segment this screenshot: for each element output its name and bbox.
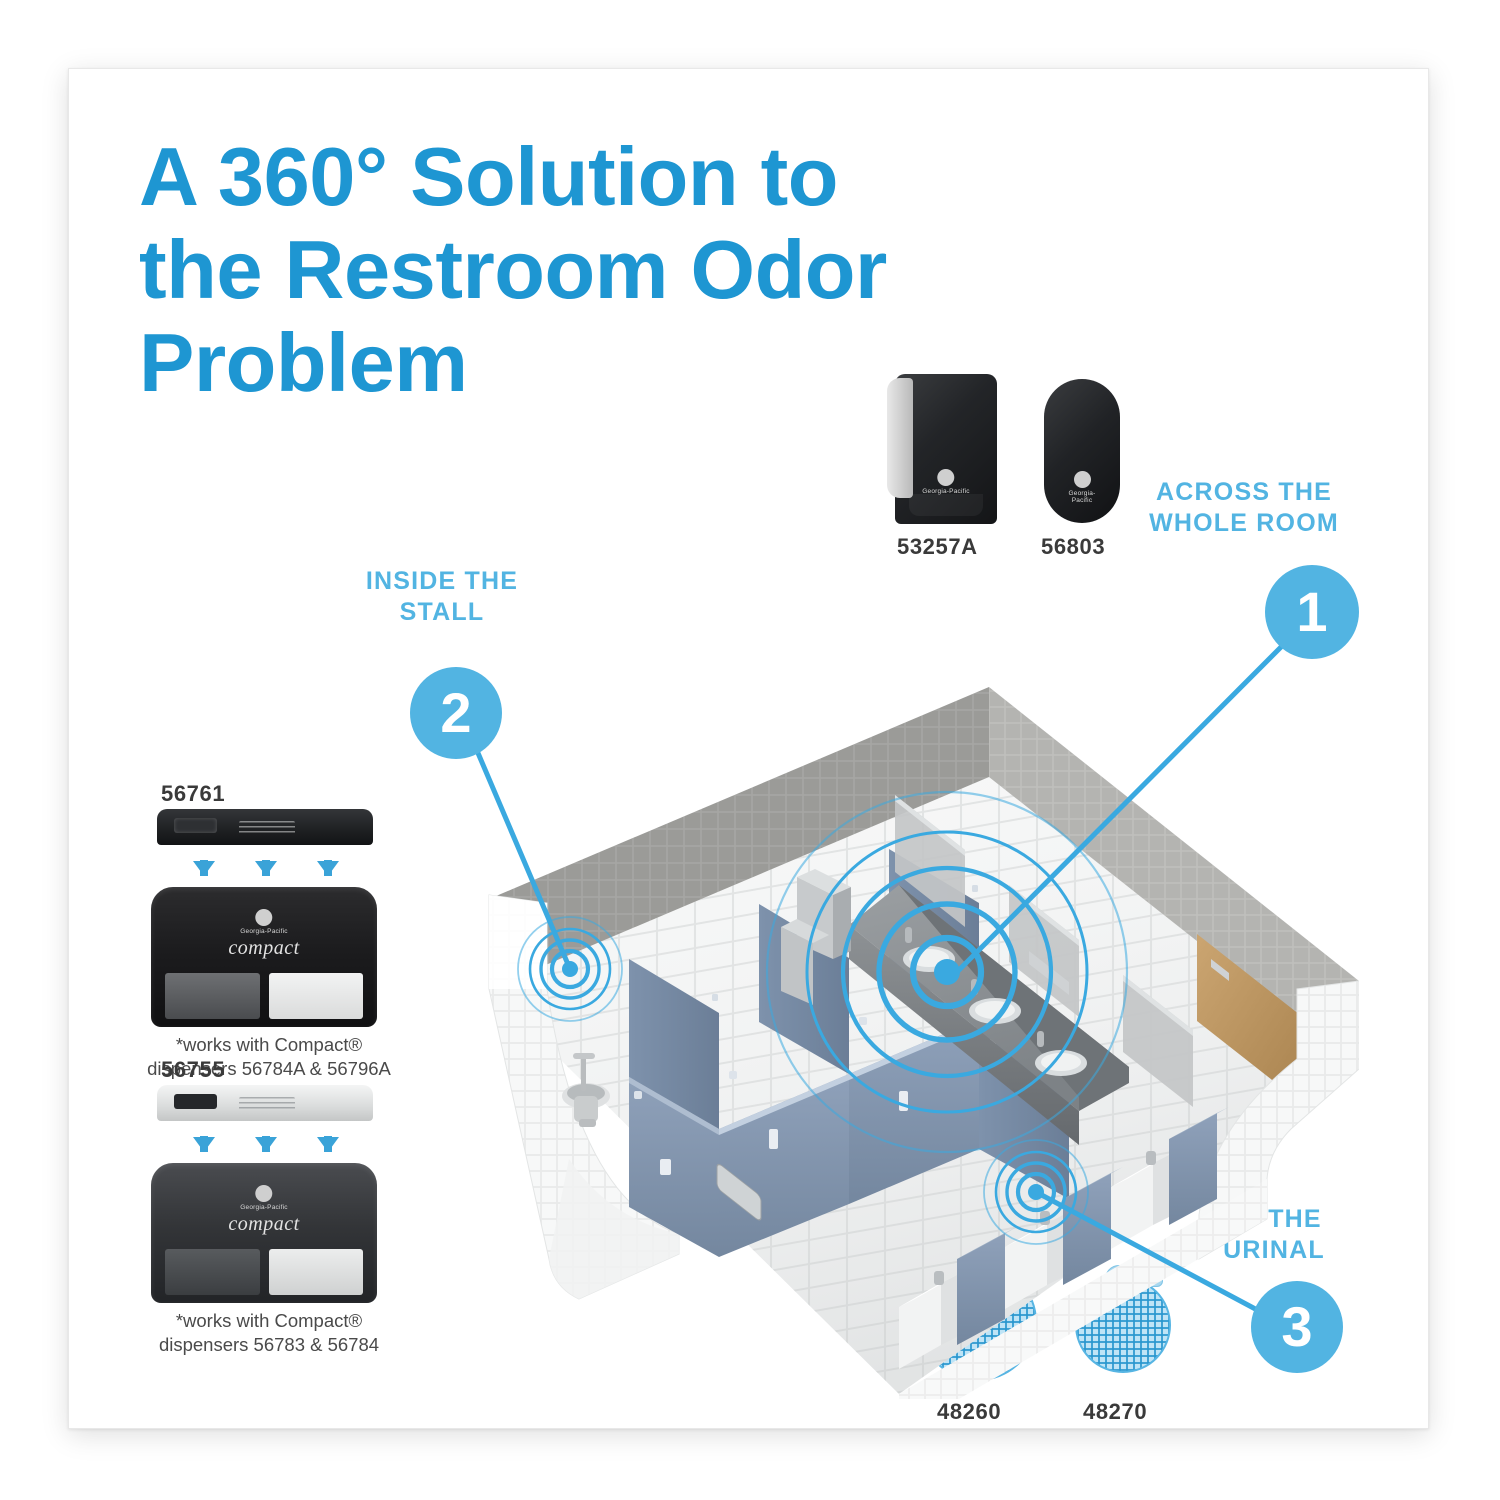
down-arrow-icon [193, 1137, 215, 1152]
tissue-window-right [269, 973, 363, 1019]
tissue-window-left [165, 973, 260, 1019]
module-control-chip [174, 1094, 217, 1108]
module-vents-icon [239, 821, 295, 836]
page-title-line-1: A 360° Solution to [139, 131, 1019, 224]
caption-across-whole-room: ACROSS THE WHOLE ROOM [1129, 477, 1359, 540]
product-56803[interactable]: Georgia-Pacific 56803 [1044, 379, 1154, 529]
gp-brand-text: Georgia-Pacific [1063, 490, 1101, 504]
tissue-window-right [269, 1249, 363, 1295]
compact-dispenser-black-image: Georgia-Pacific compact [151, 887, 377, 1027]
down-arrow-icon [255, 1137, 277, 1152]
gp-logo-53257A: Georgia-Pacific [922, 469, 969, 495]
air-freshener-module-56755 [157, 1085, 373, 1121]
tissue-window-left [165, 1249, 260, 1295]
caption-room-line-2: WHOLE ROOM [1129, 508, 1359, 539]
air-freshener-module-56761 [157, 809, 373, 845]
gp-circle-icon [1074, 471, 1091, 488]
sku-56803: 56803 [1041, 534, 1105, 560]
sku-48260: 48260 [937, 1399, 1001, 1425]
caption-inside-the-stall: INSIDE THE STALL [307, 566, 577, 629]
gp-logo-56803: Georgia-Pacific [1063, 471, 1101, 504]
product-53257A[interactable]: Georgia-Pacific 53257A [895, 374, 1015, 524]
module-control-chip [174, 818, 217, 832]
page-title-line-2: the Restroom Odor [139, 224, 1019, 317]
wall-dispenser-box-image: Georgia-Pacific [895, 374, 997, 524]
caption-stall-line-1: INSIDE THE [307, 566, 577, 597]
compact-wordmark: compact [228, 1213, 299, 1236]
caption-room-line-1: ACROSS THE [1129, 477, 1359, 508]
restroom-isometric-illustration [429, 659, 1359, 1399]
down-arrow-icon [317, 1137, 339, 1152]
gp-logo-56761: Georgia-Pacific [240, 909, 287, 935]
attach-arrows-56755 [173, 1129, 359, 1159]
product-56761[interactable]: 56761 Georgia-Pacific compact [139, 781, 399, 1051]
down-arrow-icon [193, 861, 215, 876]
wall-dispenser-pill-image: Georgia-Pacific [1044, 379, 1120, 523]
dispenser-nozzle-area [909, 494, 983, 516]
gp-circle-icon [938, 469, 955, 486]
module-vents-icon [239, 1097, 295, 1112]
down-arrow-icon [255, 861, 277, 876]
footnote-56755-line-2: dispensers 56783 & 56784 [144, 1333, 394, 1357]
infographic-canvas: A 360° Solution to the Restroom Odor Pro… [0, 0, 1500, 1500]
gp-brand-text: Georgia-Pacific [240, 928, 287, 935]
sku-56761: 56761 [161, 781, 225, 807]
badge-1-whole-room[interactable]: 1 [1265, 565, 1359, 659]
gp-brand-text: Georgia-Pacific [240, 1204, 287, 1211]
footnote-56755-line-1: *works with Compact® [144, 1309, 394, 1333]
page-title: A 360° Solution to the Restroom Odor Pro… [139, 131, 1019, 410]
compact-wordmark: compact [228, 937, 299, 960]
sku-53257A: 53257A [897, 534, 978, 560]
down-arrow-icon [317, 861, 339, 876]
sku-56755: 56755 [161, 1057, 225, 1083]
footnote-56755: *works with Compact® dispensers 56783 & … [144, 1309, 394, 1356]
product-56755[interactable]: 56755 Georgia-Pacific compact [139, 1057, 399, 1327]
compact-dispenser-gray-image: Georgia-Pacific compact [151, 1163, 377, 1303]
infographic-card: A 360° Solution to the Restroom Odor Pro… [68, 68, 1429, 1429]
caption-stall-line-2: STALL [307, 597, 577, 628]
gp-circle-icon [256, 909, 273, 926]
badge-3-at-urinal[interactable]: 3 [1251, 1281, 1343, 1373]
sku-48270: 48270 [1083, 1399, 1147, 1425]
gp-logo-56755: Georgia-Pacific [240, 1185, 287, 1211]
attach-arrows-56761 [173, 853, 359, 883]
gp-circle-icon [256, 1185, 273, 1202]
footnote-56761-line-1: *works with Compact® [144, 1033, 394, 1057]
dispenser-side-trim [887, 378, 913, 498]
badge-2-inside-stall[interactable]: 2 [410, 667, 502, 759]
